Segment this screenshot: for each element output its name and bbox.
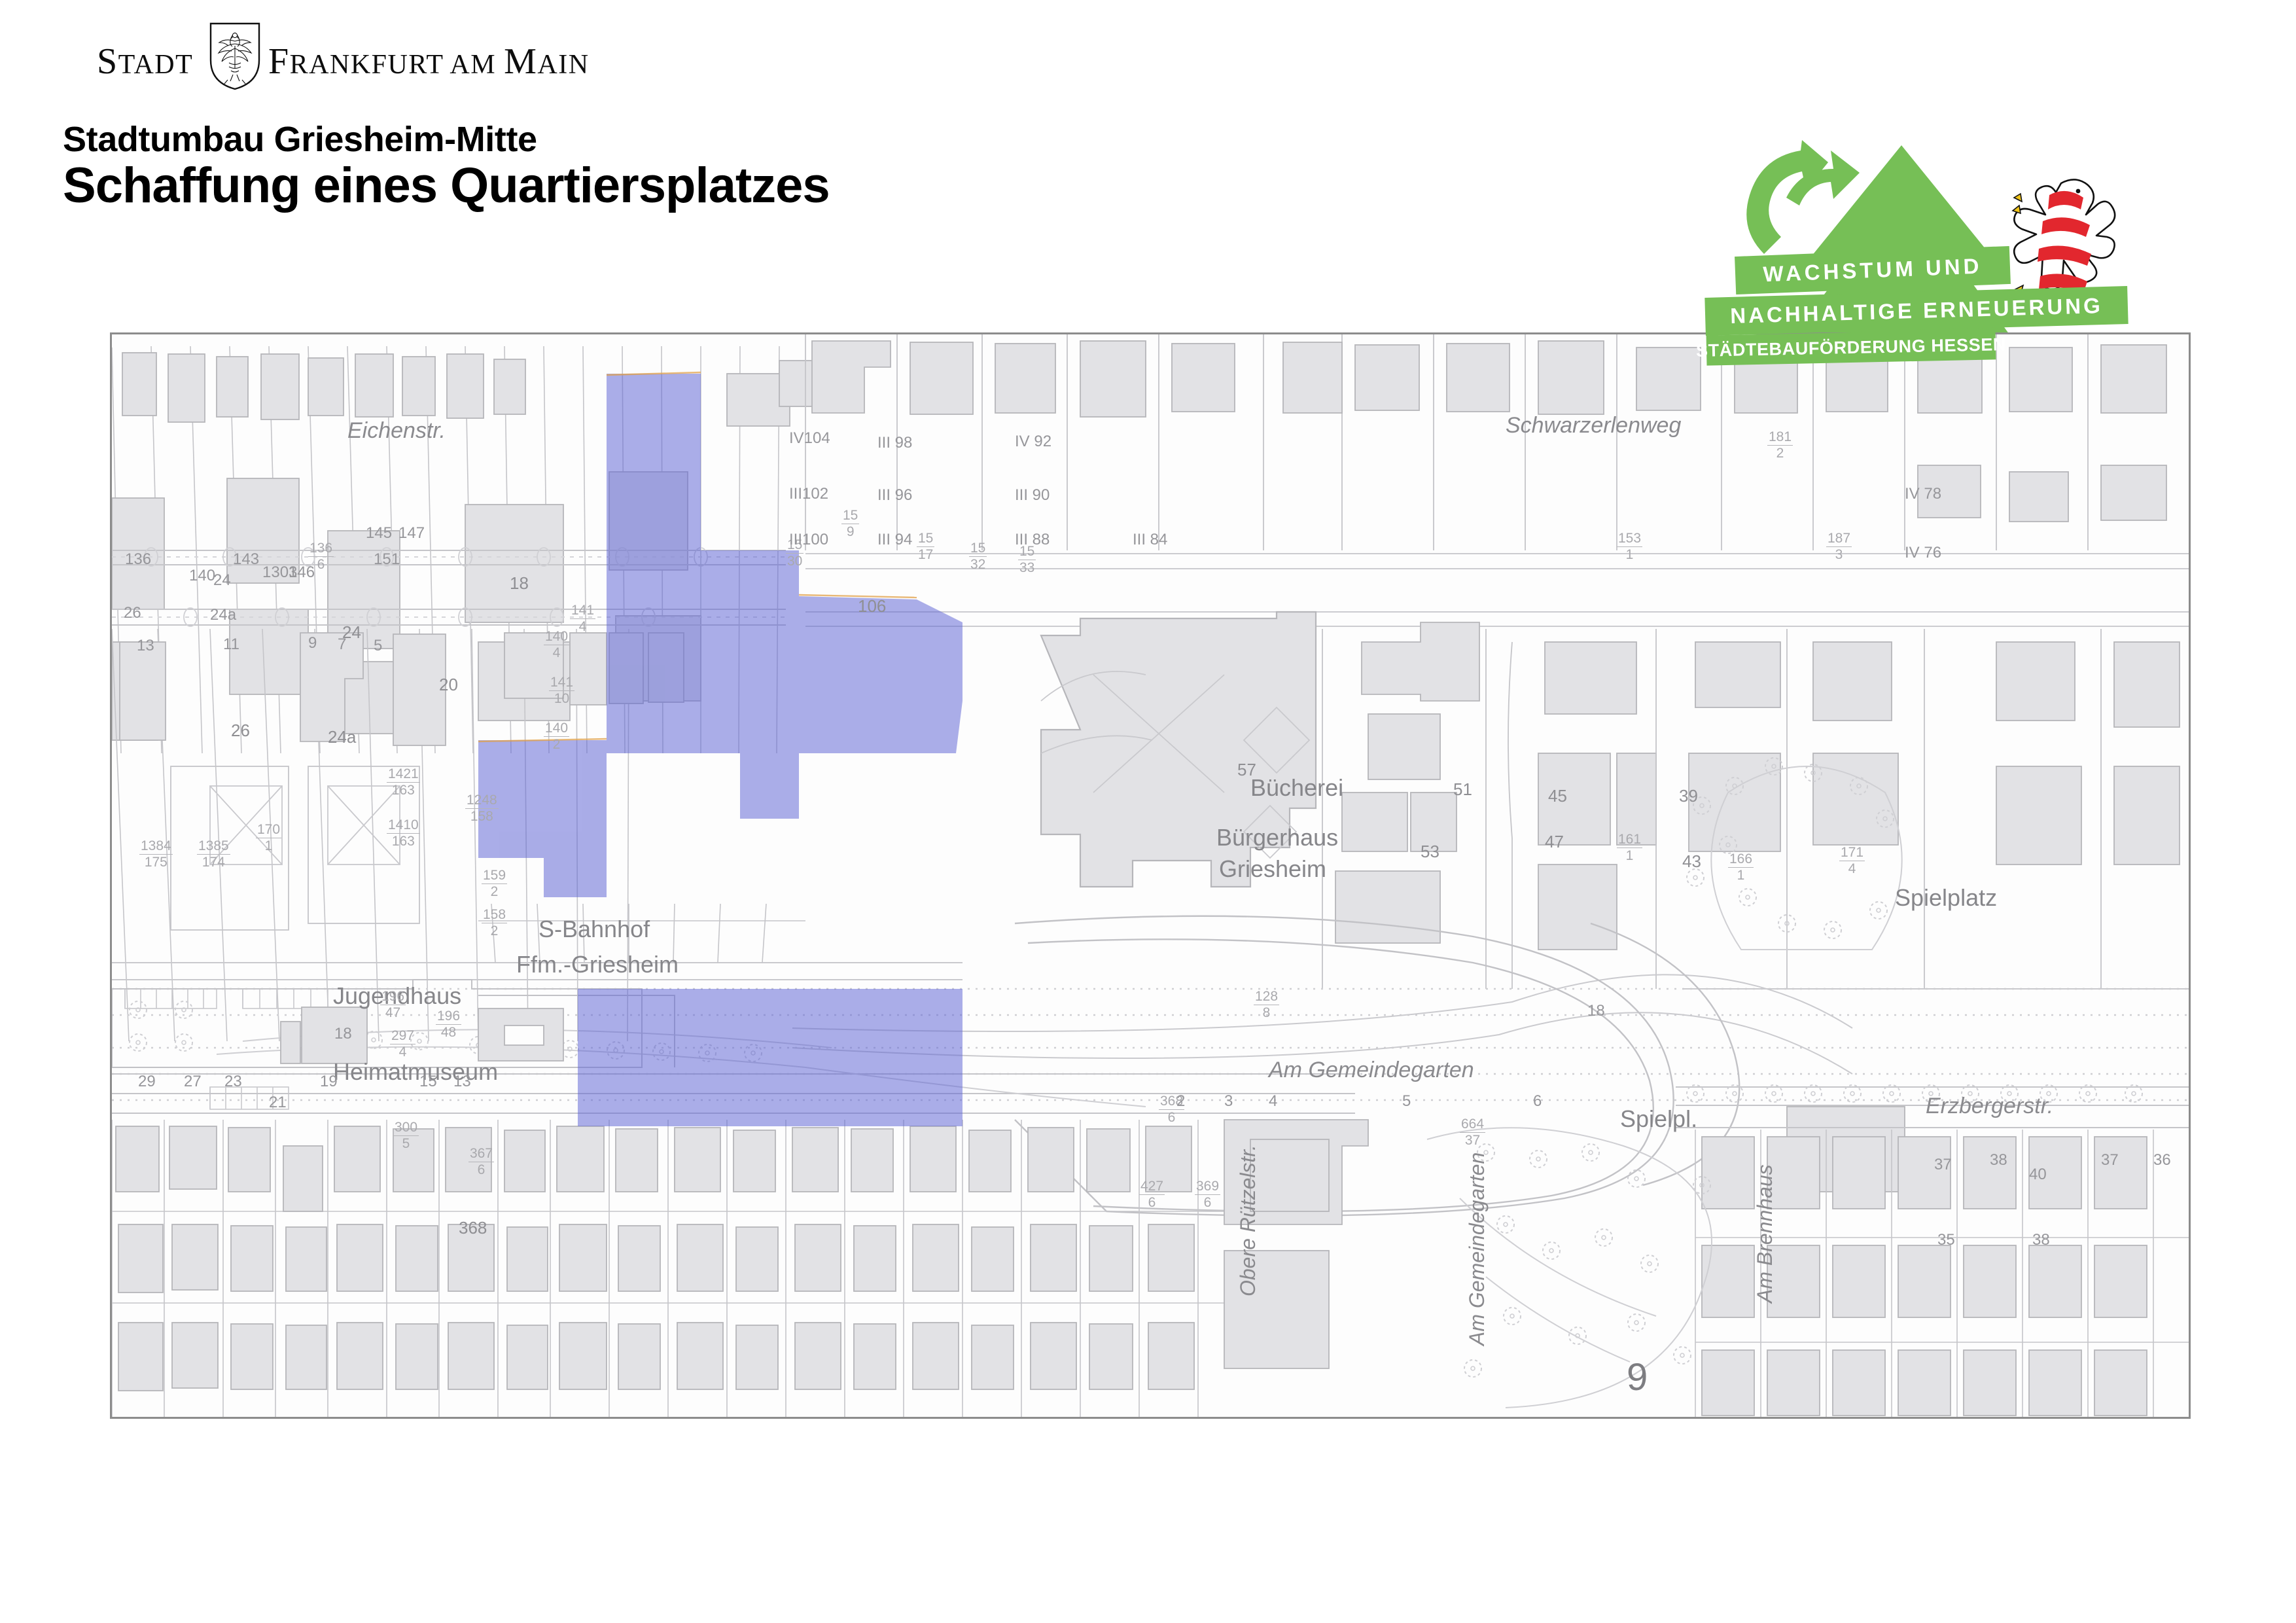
poster-footer: Bundesministerium für Wohnen, Stadtentwi… bbox=[0, 1440, 2296, 1623]
city-of-frankfurt-logo: STADT FRANKFURT AM MAIN bbox=[97, 34, 529, 86]
frankfurt-eagle-crest-icon bbox=[209, 22, 260, 90]
city-logo-left-text: STADT bbox=[97, 41, 193, 82]
badge-line-3: STÄDTEBAUFÖRDERUNG HESSEN bbox=[1706, 329, 1996, 365]
poster-header: STADT FRANKFURT AM MAIN Stadtumbau Gries… bbox=[0, 0, 2296, 327]
project-title: Schaffung eines Quartiersplatzes bbox=[63, 157, 830, 214]
city-logo-left-rest: TADT bbox=[118, 50, 194, 80]
poster-page: STADT FRANKFURT AM MAIN Stadtumbau Gries… bbox=[0, 0, 2296, 1623]
city-logo-right-text: FRANKFURT AM MAIN bbox=[268, 41, 590, 82]
cadastral-site-map[interactable]: Eichenstr. Schwarzerlenweg Am Gemeindega… bbox=[110, 332, 2191, 1419]
project-subtitle: Stadtumbau Griesheim-Mitte bbox=[63, 119, 537, 160]
